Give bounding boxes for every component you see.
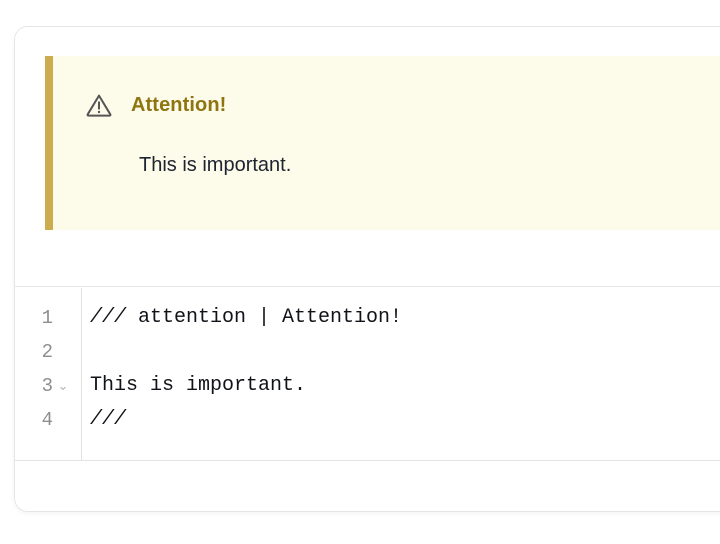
code-line-row: 4 /// [15, 403, 720, 437]
line-number: 3 [15, 369, 53, 403]
code-line-row: 2 [15, 335, 720, 369]
warning-triangle-icon [85, 92, 113, 118]
code-line-row: 3 ⌄ This is important. [15, 369, 720, 403]
code-pane: 1 /// attention | Attention! 2 3 ⌄ This … [15, 288, 720, 461]
fence-marker: /// [90, 408, 126, 431]
fence-marker: /// [90, 306, 126, 329]
admonition-header: Attention! [85, 92, 226, 118]
admonition-body-text: This is important. [139, 154, 291, 177]
admonition-example-card: Attention! This is important. 1 /// atte… [14, 26, 720, 512]
card-footer [15, 462, 720, 512]
line-number: 2 [15, 335, 53, 369]
code-lines: 1 /// attention | Attention! 2 3 ⌄ This … [15, 301, 720, 437]
code-line-text[interactable]: /// attention | Attention! [73, 301, 720, 335]
chevron-down-icon[interactable]: ⌄ [53, 369, 73, 403]
code-line-text[interactable]: /// [73, 403, 720, 437]
code-line-text[interactable]: This is important. [73, 369, 720, 403]
attention-admonition: Attention! This is important. [45, 56, 720, 230]
line-number: 4 [15, 403, 53, 437]
line-number: 1 [15, 301, 53, 335]
code-line-row: 1 /// attention | Attention! [15, 301, 720, 335]
preview-pane: Attention! This is important. [15, 27, 720, 287]
screenshot-stage: Attention! This is important. 1 /// atte… [0, 0, 720, 544]
admonition-title: Attention! [131, 94, 226, 117]
